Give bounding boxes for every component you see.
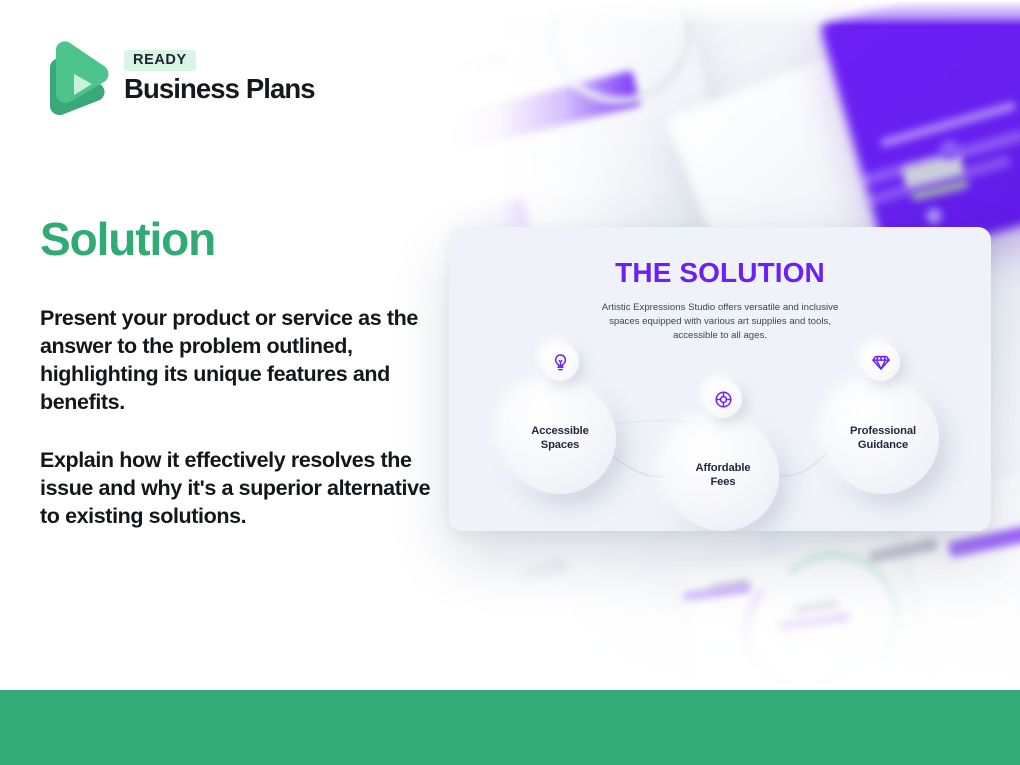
feature-label-line-1: Accessible [531, 424, 588, 438]
body-copy: Present your product or service as the a… [40, 305, 434, 531]
body-paragraph-2: Explain how it effectively resolves the … [40, 447, 434, 531]
page-title: Solution [40, 215, 215, 263]
preview-card-subtitle: Artistic Expressions Studio offers versa… [590, 301, 850, 344]
body-paragraph-1: Present your product or service as the a… [40, 305, 434, 417]
feature-label-line-1: Affordable [696, 461, 751, 475]
brand-logo-text: READY Business Plans [124, 50, 315, 104]
feature-icon-badge-2[interactable] [704, 380, 742, 418]
feature-label-line-1: Professional [850, 424, 916, 438]
feature-icon-badge-1[interactable] [541, 343, 579, 381]
feature-label-line-2: Spaces [531, 438, 588, 452]
background-fade-top [448, 0, 1020, 26]
feature-label-line-2: Fees [696, 475, 751, 489]
feature-label: Affordable Fees [696, 461, 751, 489]
solution-preview-card: THE SOLUTION Artistic Expressions Studio… [449, 227, 991, 531]
feature-bubble-affordable-fees[interactable]: Affordable Fees [667, 419, 779, 531]
brand-name: Business Plans [124, 75, 315, 104]
feature-label-line-2: Guidance [850, 438, 916, 452]
feature-label: Professional Guidance [850, 424, 916, 452]
brand-logo: READY Business Plans [40, 38, 315, 116]
feature-icon-badge-3[interactable] [862, 343, 900, 381]
lifebuoy-icon [714, 390, 733, 409]
feature-bubble-professional-guidance[interactable]: Professional Guidance [827, 382, 939, 494]
footer-bar [0, 690, 1020, 765]
background-dot [926, 208, 942, 224]
ready-badge: READY [124, 50, 196, 72]
background-dot [940, 140, 960, 160]
lightbulb-icon [551, 353, 570, 372]
preview-card-title: THE SOLUTION [449, 259, 991, 287]
feature-label: Accessible Spaces [531, 424, 588, 452]
diamond-icon [871, 352, 891, 372]
slide-canvas: READY Business Plans Solution Present yo… [0, 0, 1020, 765]
feature-bubble-accessible-spaces[interactable]: Accessible Spaces [504, 382, 616, 494]
play-triangles-logo-icon [40, 38, 110, 116]
